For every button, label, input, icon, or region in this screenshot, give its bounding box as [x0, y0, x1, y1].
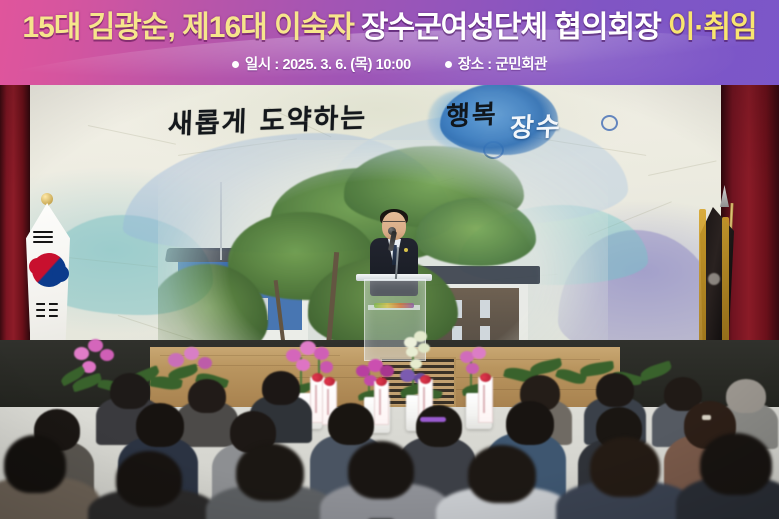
photo-canvas: 15대 김광순, 제16대 이숙자 장수군여성단체 협의회장 이·취임 일시 :… [0, 0, 779, 519]
event-photograph: 새롭게 도약하는 행복 장수 [0, 85, 779, 519]
bullet-icon [232, 61, 239, 68]
purple-accent-bloom [400, 369, 415, 382]
flag-fringe-right-edge [722, 217, 729, 347]
flagpole-in-photo [220, 182, 222, 260]
calligraphy-brand-dark: 행복 [445, 94, 498, 134]
banner-subtitle: 일시 : 2025. 3. 6. (목) 10:00 장소 : 군민회관 [0, 48, 779, 78]
banner-date-item: 일시 : 2025. 3. 6. (목) 10:00 [232, 53, 411, 74]
banner-place-item: 장소 : 군민회관 [445, 53, 547, 74]
trigram-gap [45, 301, 49, 319]
banner-place-label: 장소 : 군민회관 [458, 57, 547, 73]
banner-title-part2: 장수군여성단체 협의회장 [361, 2, 661, 46]
bullet-icon [445, 61, 452, 68]
hair-pin [702, 415, 711, 420]
flag-fringe-left-edge [699, 209, 706, 354]
flag-emblem [708, 273, 720, 285]
gray-haired-attendee [726, 379, 766, 413]
banner-title: 15대 김광순, 제16대 이숙자 장수군여성단체 협의회장 이·취임 [0, 0, 779, 49]
banner-title-part3: 이·취임 [668, 2, 757, 46]
speaker-glasses [383, 221, 405, 227]
podium-decoration [374, 303, 414, 308]
calligraphy-line: 새롭게 도약하는 [167, 95, 368, 141]
speaker-lapel-pin [404, 248, 408, 252]
calligraphy-brand-light: 장수 [509, 106, 563, 145]
attendee-brown-hair [590, 437, 660, 497]
flag-finial-left [41, 193, 53, 205]
hair-clip-purple [420, 417, 446, 422]
banner-date-label: 일시 : 2025. 3. 6. (목) 10:00 [245, 57, 411, 73]
event-title-banner: 15대 김광순, 제16대 이숙자 장수군여성단체 협의회장 이·취임 일시 :… [0, 0, 779, 85]
banner-title-part1: 15대 김광순, 제16대 이숙자 [22, 2, 353, 46]
calligraphy-headline: 새롭게 도약하는 행복 장수 [28, 85, 728, 165]
